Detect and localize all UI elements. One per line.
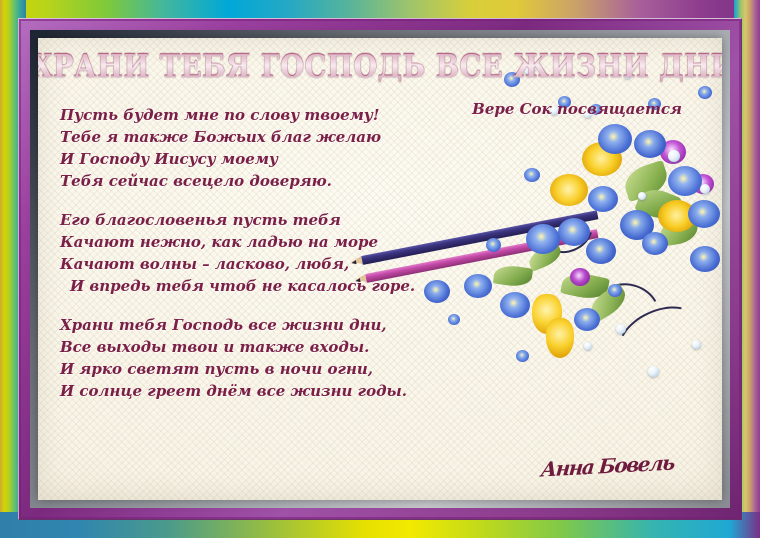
poem-stanza: Храни тебя Господь все жизни дни, Все вы… <box>60 314 440 402</box>
poem-line: И ярко светят пусть в ночи огни, <box>60 358 440 380</box>
flower-blue-icon <box>586 238 616 264</box>
flower-purple-icon <box>570 268 590 286</box>
poem-line: И впредь тебя чтоб не касалось горе. <box>60 275 440 297</box>
dedication-text: Вере Сок посвящается <box>472 100 682 118</box>
pearl-bubble-icon <box>668 150 680 162</box>
swirl-ribbon-icon <box>532 196 602 263</box>
flower-blue-icon <box>616 250 644 274</box>
pearl-bubble-icon <box>700 184 710 194</box>
flower-blue-icon <box>526 224 560 254</box>
pearl-bubble-icon <box>648 366 659 377</box>
flower-blue-icon <box>634 130 666 158</box>
flower-blue-icon <box>500 292 530 318</box>
flower-blue-small-icon <box>516 350 529 362</box>
flower-blue-small-icon <box>608 284 622 297</box>
flower-blue-icon <box>690 246 720 272</box>
leaf-icon <box>526 242 564 271</box>
poem-line: И Господу Иисусу моему <box>60 148 440 170</box>
poem-line: Качают нежно, как ладью на море <box>60 231 440 253</box>
flower-yellow-icon <box>532 294 562 334</box>
flower-blue-small-icon <box>524 168 540 182</box>
flower-blue-icon <box>620 210 654 240</box>
author-signature: Анна Бовель <box>540 450 675 481</box>
flower-blue-icon <box>598 124 632 154</box>
leaf-icon <box>620 160 671 202</box>
poem-line: Тебе я также Божьих благ желаю <box>60 126 440 148</box>
poem-line: Его благословенья пусть тебя <box>60 209 440 231</box>
poem-line: И солнце греет днём все жизни годы. <box>60 380 440 402</box>
flower-blue-icon <box>464 274 492 298</box>
poem-line: Пусть будет мне по слову твоему! <box>60 104 440 126</box>
leaf-icon <box>658 215 699 246</box>
poem-line: Все выходы твои и также входы. <box>60 336 440 358</box>
flower-blue-icon <box>588 186 618 212</box>
swirl-ribbon-icon <box>609 294 710 379</box>
flower-blue-icon <box>558 218 590 246</box>
pearl-bubble-icon <box>692 340 701 349</box>
card-canvas: ХРАНИ ТЕБЯ ГОСПОДЬ ВСЕ ЖИЗНИ ДНИ Вере Со… <box>38 38 722 500</box>
page-title: ХРАНИ ТЕБЯ ГОСПОДЬ ВСЕ ЖИЗНИ ДНИ <box>38 48 722 85</box>
pearl-bubble-icon <box>584 342 592 350</box>
poem-stanza: Пусть будет мне по слову твоему! Тебе я … <box>60 104 440 192</box>
flower-blue-icon <box>574 308 600 331</box>
flower-yellow-icon <box>582 142 622 176</box>
flower-yellow-icon <box>658 200 696 232</box>
flower-blue-icon <box>668 166 702 196</box>
flower-purple-icon <box>692 174 714 194</box>
pearl-bubble-icon <box>638 192 646 200</box>
poem-line: Тебя сейчас всецело доверяю. <box>60 170 440 192</box>
flower-blue-icon <box>688 200 720 228</box>
poem-body: Пусть будет мне по слову твоему! Тебе я … <box>60 104 440 419</box>
pearl-bubble-icon <box>616 324 626 334</box>
leaf-icon <box>634 184 682 225</box>
leaf-icon <box>493 263 533 288</box>
poem-line: Качают волны – ласково, любя, <box>60 253 440 275</box>
flower-yellow-icon <box>550 174 588 206</box>
greeting-card-image: ХРАНИ ТЕБЯ ГОСПОДЬ ВСЕ ЖИЗНИ ДНИ Вере Со… <box>0 0 760 538</box>
leaf-icon <box>560 269 610 302</box>
leaf-icon <box>585 283 631 323</box>
flower-blue-small-icon <box>698 86 712 99</box>
flower-purple-icon <box>660 140 686 164</box>
flower-yellow-icon <box>546 318 574 358</box>
floral-bouquet-artwork <box>402 78 722 378</box>
poem-stanza: Его благословенья пусть тебя Качают нежн… <box>60 209 440 297</box>
poem-line: Храни тебя Господь все жизни дни, <box>60 314 440 336</box>
flower-blue-small-icon <box>448 314 460 325</box>
flower-blue-icon <box>642 232 668 255</box>
flower-blue-small-icon <box>486 238 501 252</box>
swirl-ribbon-icon <box>591 275 666 343</box>
